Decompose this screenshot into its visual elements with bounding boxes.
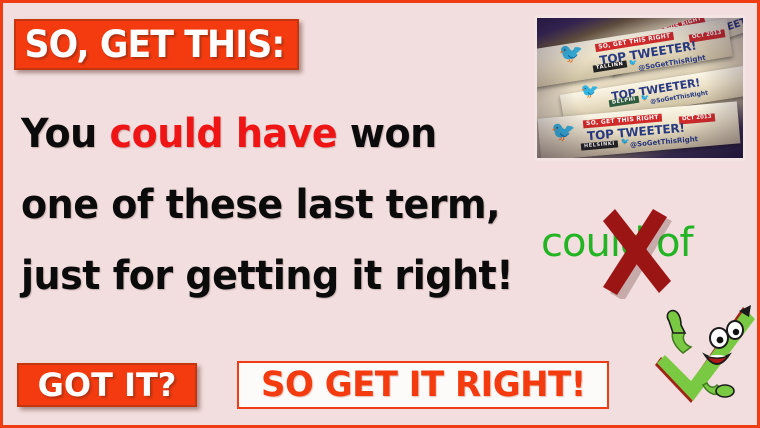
body-line-1: You could have won bbox=[21, 99, 496, 170]
slide-canvas: SO, GET THIS: SO, GET THIS RIGHT TOP TWE… bbox=[0, 0, 760, 428]
red-cross-icon bbox=[597, 207, 677, 299]
so-get-it-right-label: SO GET IT RIGHT! bbox=[261, 368, 586, 403]
could-of-group: could of bbox=[541, 219, 711, 275]
so-get-it-right-banner: SO GET IT RIGHT! bbox=[237, 361, 609, 409]
body-copy: You could have won one of these last ter… bbox=[21, 99, 521, 312]
body-line-1-part-1: You bbox=[21, 111, 110, 157]
got-it-banner: GOT IT? bbox=[17, 363, 197, 407]
green-check-mark-character-icon bbox=[651, 299, 760, 419]
body-line-3: just for getting it right! bbox=[21, 241, 496, 312]
got-it-label: GOT IT? bbox=[38, 369, 177, 401]
title-banner-label: SO, GET THIS: bbox=[16, 26, 284, 63]
body-line-1-highlight: could have bbox=[110, 111, 338, 157]
award-photo: SO, GET THIS RIGHT TOP TWEETER! 🐦 SO, GE… bbox=[534, 15, 746, 161]
twitter-bird-icon-small-3: 🐦 bbox=[621, 139, 630, 147]
body-line-1-part-2: won bbox=[337, 111, 437, 157]
award-photo-image: SO, GET THIS RIGHT TOP TWEETER! 🐦 SO, GE… bbox=[537, 18, 743, 158]
twitter-bird-icon-3: 🐦 bbox=[550, 121, 577, 143]
title-banner: SO, GET THIS: bbox=[14, 19, 299, 70]
twitter-bird-icon-2: 🐦 bbox=[580, 83, 601, 101]
body-line-2: one of these last term, bbox=[21, 170, 496, 241]
twitter-bird-icon: 🐦 bbox=[558, 42, 586, 66]
